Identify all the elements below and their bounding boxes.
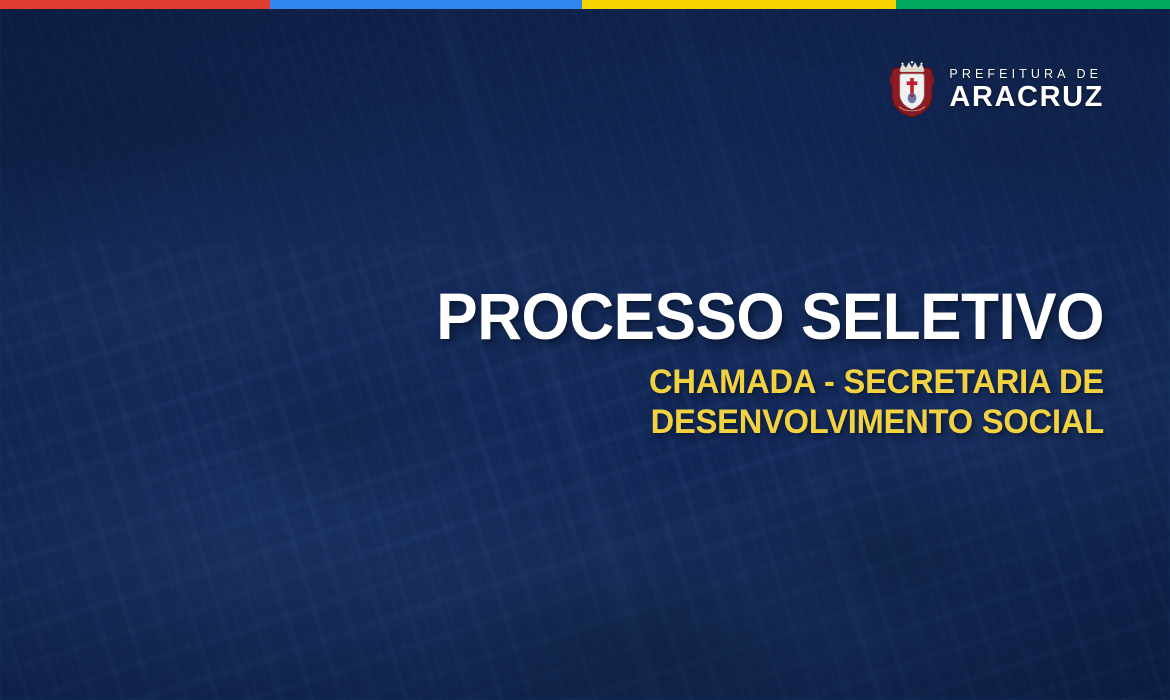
prefeitura-logo: PREFEITURA DE ARACRUZ [889,60,1104,120]
color-bar-segment-yellow [582,0,896,9]
subtitle-line-1: CHAMADA - SECRETARIA DE [374,363,1104,402]
subtitle-line-2: DESENVOLVIMENTO SOCIAL [374,403,1104,442]
color-bar-segment-red [0,0,270,9]
announcement-banner: PREFEITURA DE ARACRUZ PROCESSO SELETIVO … [0,0,1170,700]
page-title: PROCESSO SELETIVO [390,283,1104,350]
logo-wordmark: PREFEITURA DE ARACRUZ [949,68,1104,113]
top-color-bar [0,0,1170,9]
color-bar-segment-blue [270,0,582,9]
color-bar-segment-green [896,0,1170,9]
coat-of-arms-icon [889,60,935,120]
logo-prefeitura-label: PREFEITURA DE [949,68,1104,81]
logo-city-name: ARACRUZ [949,83,1104,112]
headline-block: PROCESSO SELETIVO CHAMADA - SECRETARIA D… [344,283,1104,442]
